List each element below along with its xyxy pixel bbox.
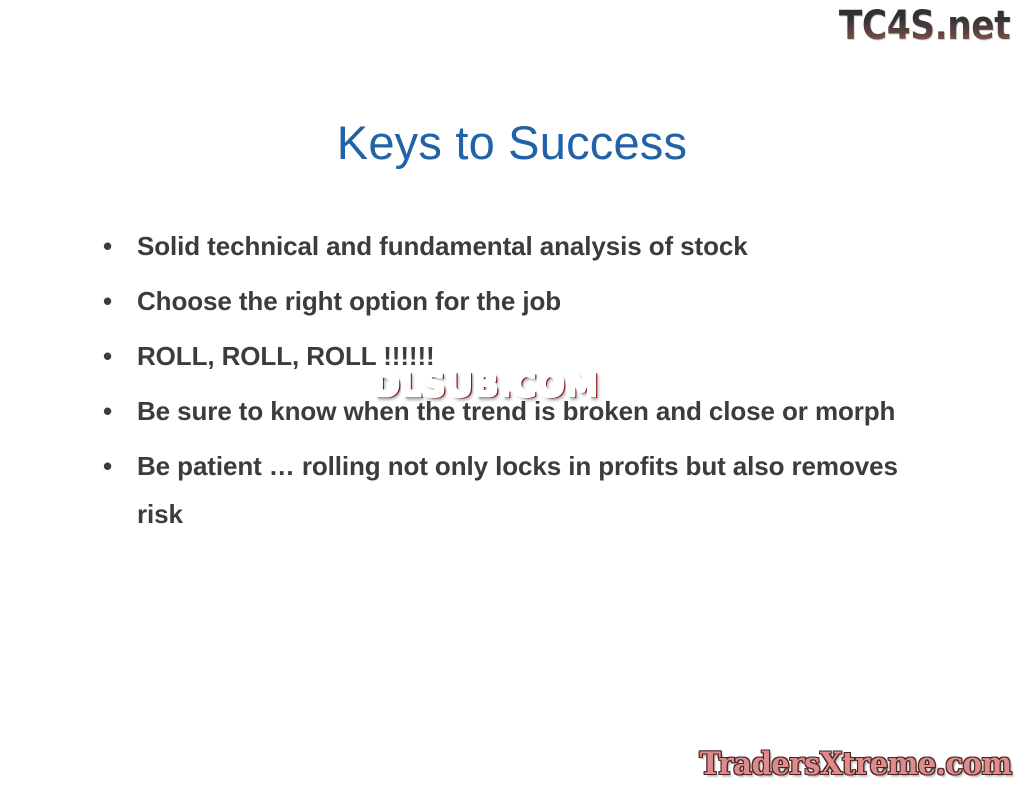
list-item: • ROLL, ROLL, ROLL !!!!!! bbox=[95, 332, 955, 380]
list-item: • Solid technical and fundamental analys… bbox=[95, 222, 955, 270]
bullet-point-icon: • bbox=[103, 387, 117, 435]
list-item: • Be sure to know when the trend is brok… bbox=[95, 387, 955, 435]
page-title: Keys to Success bbox=[0, 115, 1024, 171]
bullet-point-icon: • bbox=[103, 332, 117, 380]
tradersxtreme-site-logo: TradersXtreme.com bbox=[700, 745, 1012, 783]
list-item-label: Choose the right option for the job bbox=[137, 277, 955, 325]
list-item-label: Be patient … rolling not only locks in p… bbox=[137, 442, 937, 538]
bullet-point-icon: • bbox=[103, 442, 117, 490]
bullet-point-icon: • bbox=[103, 222, 117, 270]
bullet-list: • Solid technical and fundamental analys… bbox=[95, 222, 955, 545]
presentation-slide: TC4S.net Keys to Success • Solid technic… bbox=[0, 0, 1024, 791]
list-item-label: Solid technical and fundamental analysis… bbox=[137, 222, 955, 270]
list-item: • Choose the right option for the job bbox=[95, 277, 955, 325]
list-item-label: ROLL, ROLL, ROLL !!!!!! bbox=[137, 332, 955, 380]
bullet-point-icon: • bbox=[103, 277, 117, 325]
tc4s-brand-logo: TC4S.net bbox=[839, 2, 1010, 50]
list-item: • Be patient … rolling not only locks in… bbox=[95, 442, 955, 538]
list-item-label: Be sure to know when the trend is broken… bbox=[137, 387, 937, 435]
